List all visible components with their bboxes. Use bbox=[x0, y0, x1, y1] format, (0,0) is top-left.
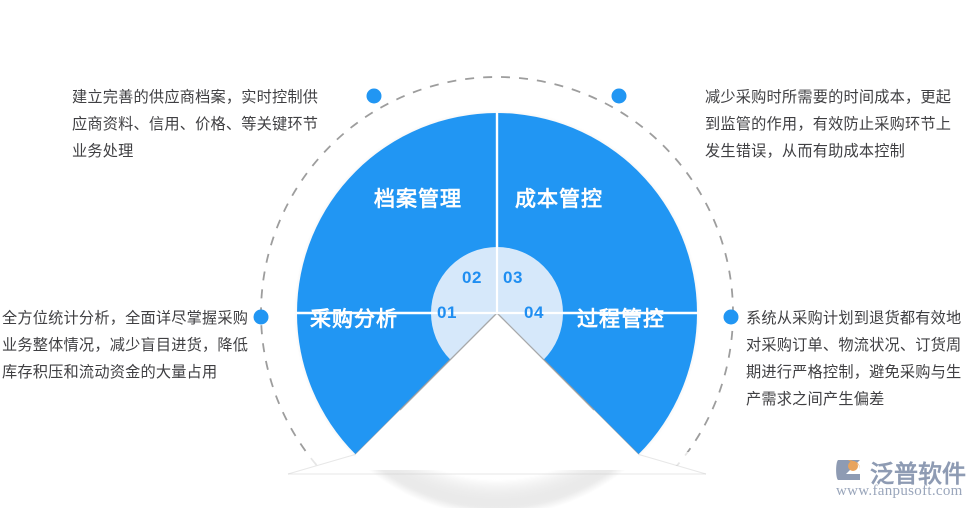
marker-dot-right[interactable] bbox=[724, 310, 739, 325]
radial-wedge-diagram bbox=[0, 0, 966, 508]
marker-dot-top-right[interactable] bbox=[612, 89, 627, 104]
hub-number-02: 02 bbox=[462, 268, 482, 288]
infographic-canvas: 建立完善的供应商档案，实时控制供应商资料、信用、价格、等关键环节业务处理 减少采… bbox=[0, 0, 966, 508]
wedge-label-archive-management[interactable]: 档案管理 bbox=[374, 183, 462, 213]
marker-dot-top-left[interactable] bbox=[367, 89, 382, 104]
fanpu-logo-icon bbox=[834, 456, 866, 484]
hub-number-04: 04 bbox=[524, 303, 544, 323]
brand-logo: 泛普软件 www.fanpusoft.com bbox=[834, 454, 964, 502]
logo-website-url: www.fanpusoft.com bbox=[836, 483, 963, 500]
description-purchase-analysis: 全方位统计分析，全面详尽掌握采购业务整体情况，减少盲目进货，降低库存积压和流动资… bbox=[2, 305, 254, 386]
description-process-control: 系统从采购计划到退货都有效地对采购订单、物流状况、订货周期进行严格控制，避免采购… bbox=[746, 305, 964, 413]
wedge-label-cost-control[interactable]: 成本管控 bbox=[515, 183, 603, 213]
wedge-label-process-control[interactable]: 过程管控 bbox=[577, 303, 665, 333]
description-archive-management: 建立完善的供应商档案，实时控制供应商资料、信用、价格、等关键环节业务处理 bbox=[72, 84, 324, 165]
hub-number-01: 01 bbox=[437, 303, 457, 323]
hub-number-03: 03 bbox=[503, 268, 523, 288]
wedge-label-purchase-analysis[interactable]: 采购分析 bbox=[310, 303, 398, 333]
marker-dot-left[interactable] bbox=[254, 310, 269, 325]
description-cost-control: 减少采购时所需要的时间成本，更起到监管的作用，有效防止采购环节上发生错误，从而有… bbox=[705, 84, 963, 165]
